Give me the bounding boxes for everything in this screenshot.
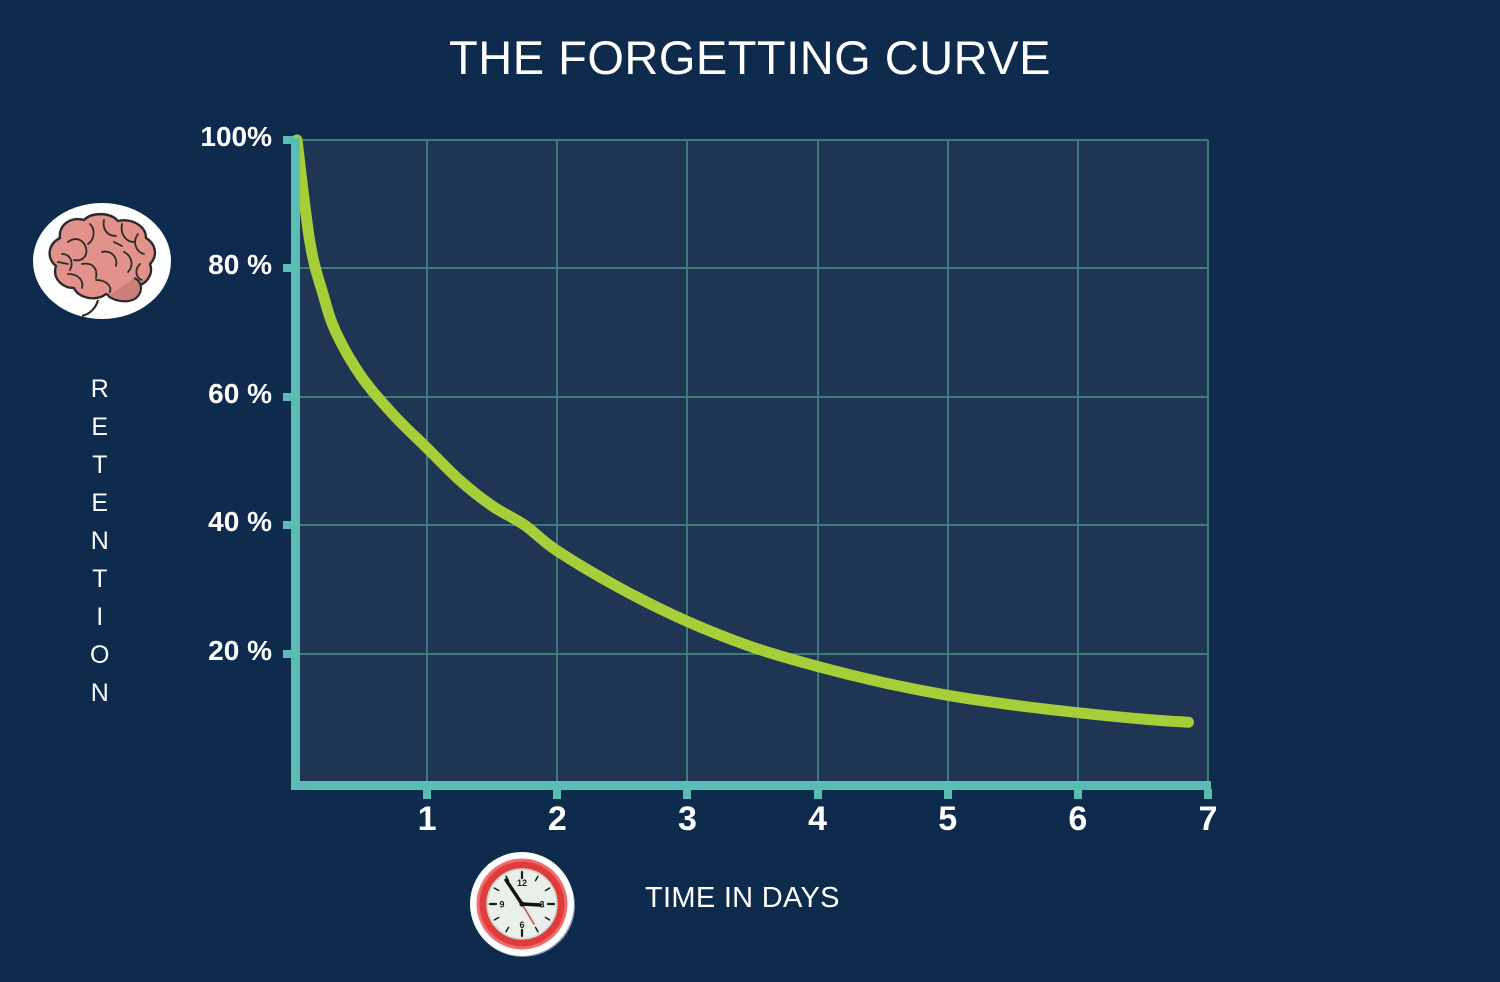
y-axis-tick [283,264,293,272]
x-axis-label: 6 [1038,800,1118,839]
chart-canvas: THE FORGETTING CURVE [0,0,1500,982]
y-axis-tick [283,136,293,144]
y-axis-title-letter: N [78,674,122,712]
x-axis-label: 5 [908,800,988,839]
y-axis-title-letter: T [78,446,122,484]
y-axis-title-letter: T [78,560,122,598]
y-axis-title-letter: E [78,408,122,446]
x-axis-tick [683,789,691,799]
x-axis-label: 3 [647,800,727,839]
clock-numeral-12: 12 [517,878,527,888]
x-axis-tick [814,789,822,799]
retention-curve-path [297,140,1188,722]
page-title: THE FORGETTING CURVE [0,32,1500,84]
x-axis-label: 7 [1168,800,1248,839]
y-axis-label: 20 % [0,635,272,667]
x-axis-label: 4 [778,800,858,839]
x-axis-label: 1 [387,800,467,839]
x-axis-tick [553,789,561,799]
y-axis-tick [283,393,293,401]
clock-numeral-6: 6 [519,920,524,930]
y-axis-line [291,138,300,790]
retention-curve [297,140,1208,782]
x-axis-title: TIME IN DAYS [645,882,840,915]
y-axis-tick [283,650,293,658]
x-axis-tick [423,789,431,799]
x-axis-tick [1074,789,1082,799]
y-axis-label: 60 % [0,378,272,410]
y-axis-label: 40 % [0,506,272,538]
y-axis-label: 80 % [0,249,272,281]
x-axis-tick [944,789,952,799]
plot-area [297,140,1208,782]
y-axis-label: 100% [0,121,272,153]
y-axis-title-letter: I [78,598,122,636]
x-axis-tick [1204,789,1212,799]
clock-numeral-9: 9 [499,900,504,910]
x-axis-label: 2 [517,800,597,839]
clock-minute-hand [522,904,540,905]
clock-icon: 12 3 6 9 [466,848,578,960]
y-axis-tick [283,521,293,529]
